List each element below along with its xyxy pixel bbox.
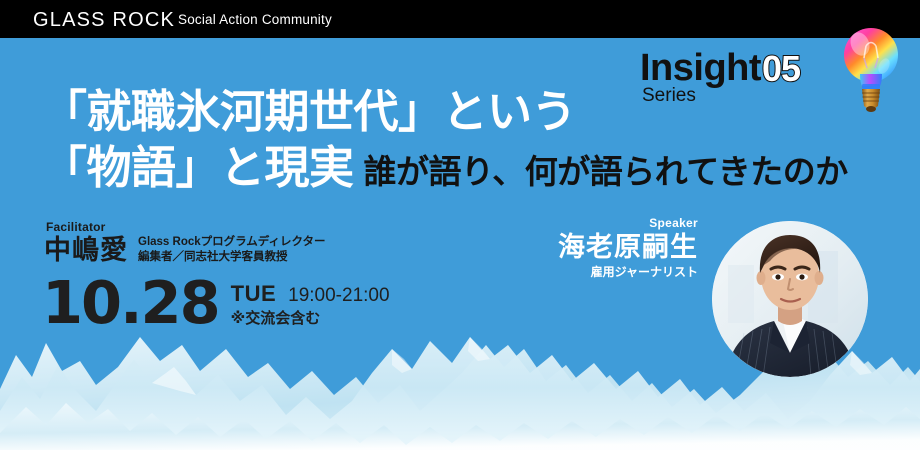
event-time: 19:00-21:00 [288,284,389,308]
facilitator-block: Facilitator 中嶋愛 Glass Rockプログラムディレクター 編集… [44,220,326,266]
headline-block: 「就職氷河期世代」という 「物語」と現実誰が語り、何が語られてきたのか [42,84,902,200]
headline-subtitle: 誰が語り、何が語られてきたのか [354,152,848,191]
facilitator-row: 中嶋愛 Glass Rockプログラムディレクター 編集者／同志社大学客員教授 [44,235,326,266]
event-note: ※交流会含む [231,309,390,329]
event-date-details: TUE 19:00-21:00 ※交流会含む [231,282,390,329]
headline-line-1: 「就職氷河期世代」という [42,84,902,140]
insight-number: 05 [762,50,800,88]
speaker-name: 海老原嗣生 [558,232,698,264]
insight-word: Insight [640,48,761,88]
event-date-block: 10.28 TUE 19:00-21:00 ※交流会含む [42,272,390,334]
facilitator-titles: Glass Rockプログラムディレクター 編集者／同志社大学客員教授 [138,235,326,264]
brand-logo: GLASS ROCK [33,10,175,30]
top-brand-bar: GLASS ROCK Social Action Community [0,0,920,38]
event-day-of-week: TUE [231,282,277,306]
headline-line-2-row: 「物語」と現実誰が語り、何が語られてきたのか [42,140,902,200]
speaker-block: Speaker 海老原嗣生 雇用ジャーナリスト [558,216,698,280]
event-banner: GLASS ROCK Social Action Community Insig… [0,0,920,450]
speaker-label: Speaker [558,216,698,230]
facilitator-title-1: Glass Rockプログラムディレクター [138,235,326,250]
event-day-time-row: TUE 19:00-21:00 [231,282,390,308]
headline-line-2: 「物語」と現実 [42,141,354,194]
lightbulb-icon [836,24,906,122]
event-date: 10.28 [42,272,219,334]
brand-tagline: Social Action Community [178,13,332,27]
facilitator-label: Facilitator [46,220,326,234]
facilitator-name: 中嶋愛 [44,236,128,266]
speaker-portrait [712,221,868,377]
facilitator-title-2: 編集者／同志社大学客員教授 [138,250,326,265]
speaker-role: 雇用ジャーナリスト [558,265,698,280]
